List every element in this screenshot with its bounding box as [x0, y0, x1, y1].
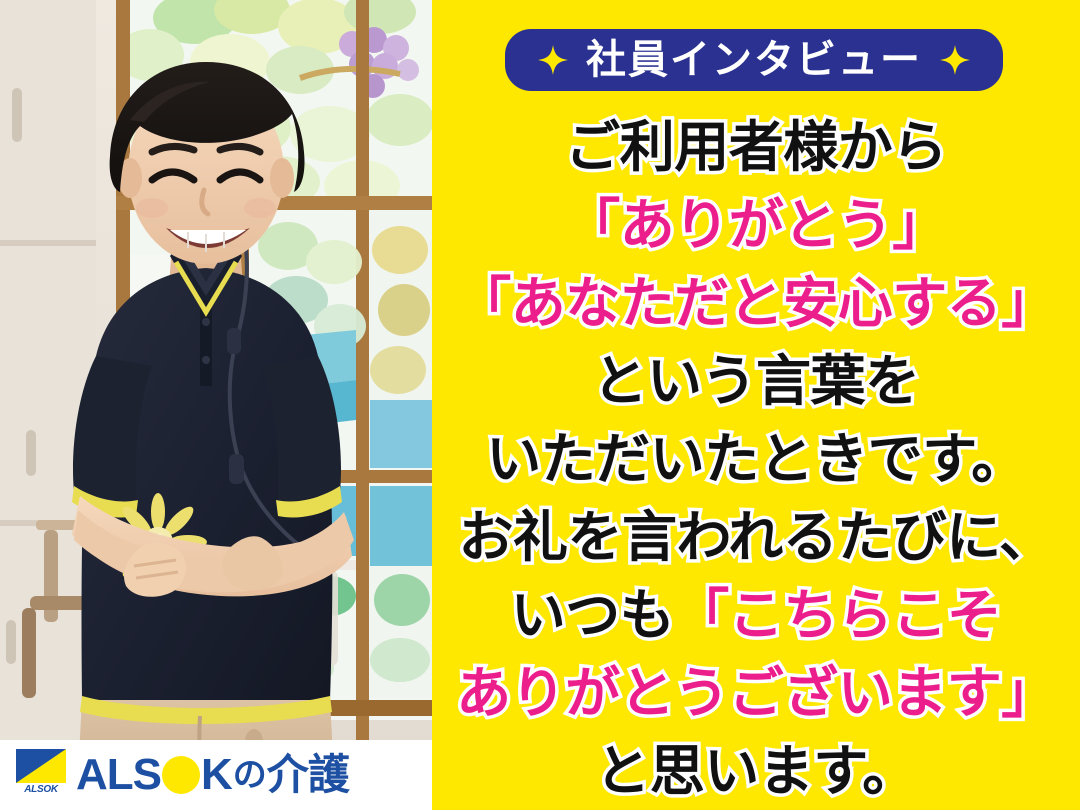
quote-line-6: お礼を言われるたびに、	[432, 498, 1080, 576]
poster-root: A	[0, 0, 1080, 810]
wordmark-k: K	[201, 753, 232, 797]
wordmark-no: の	[233, 758, 266, 792]
wordmark-kaigo: 介護	[267, 754, 349, 796]
interview-badge: 社員インタビュー	[505, 29, 1003, 91]
staff-photo-image: A	[0, 0, 432, 810]
quote-line-7-segment-1: いつも	[511, 584, 675, 646]
quote-text-block: ご利用者様から 「ありがとう」 「あなただと安心する」 という言葉を いただいた…	[432, 108, 1080, 810]
quote-panel: 社員インタビュー ご利用者様から 「ありがとう」 「あなただと安心する」 という…	[432, 0, 1080, 810]
alsok-mark-square	[16, 749, 66, 783]
staff-photo: A	[0, 0, 432, 810]
quote-line-5: いただいたときです。	[432, 420, 1080, 498]
wordmark-als: ALS	[76, 753, 161, 797]
quote-line-4: という言葉を	[432, 342, 1080, 420]
wordmark-o-circle-icon	[162, 756, 200, 794]
quote-line-3: 「あなただと安心する」	[432, 264, 1080, 342]
alsok-mark-caption: ALSOK	[16, 783, 66, 797]
quote-line-7-segment-2: 「こちらこそ	[674, 584, 1001, 646]
quote-line-7: いつも「こちらこそ	[432, 576, 1080, 654]
alsok-wordmark: ALS K の 介護	[76, 753, 349, 797]
interview-badge-label: 社員インタビュー	[586, 40, 922, 80]
alsok-diagonal-mark-icon: ALSOK	[16, 749, 66, 801]
sparkle-icon	[538, 45, 568, 75]
quote-line-8: ありがとうございます」	[432, 654, 1080, 732]
quote-line-2: 「ありがとう」	[432, 186, 1080, 264]
quote-line-1: ご利用者様から	[432, 108, 1080, 186]
sparkle-icon	[940, 45, 970, 75]
quote-line-9: と思います。	[432, 732, 1080, 810]
alsok-logo-bar: ALSOK ALS K の 介護	[0, 740, 432, 810]
